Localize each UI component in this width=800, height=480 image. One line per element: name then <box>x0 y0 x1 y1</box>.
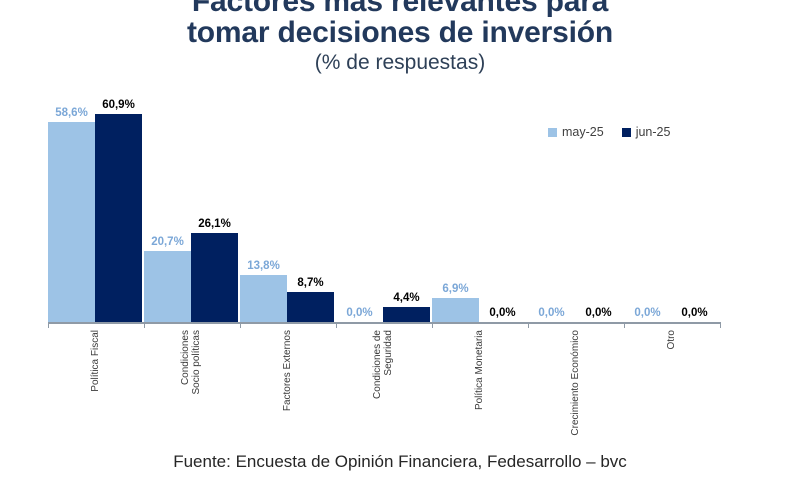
x-axis-tick <box>240 322 242 328</box>
bar-jun-25-2[interactable] <box>287 292 334 322</box>
x-axis-label-1: CondicionesSocio políticas <box>180 330 202 394</box>
value-label-jun-25-6: 0,0% <box>665 307 724 319</box>
value-label-may-25-1: 20,7% <box>138 236 197 248</box>
x-axis-label-0: Política Fiscal <box>90 330 101 392</box>
value-label-may-25-4: 6,9% <box>426 283 485 295</box>
x-axis-tick <box>336 322 338 328</box>
value-label-jun-25-0: 60,9% <box>89 99 148 111</box>
bar-jun-25-0[interactable] <box>95 114 142 322</box>
value-label-may-25-3: 0,0% <box>330 307 389 319</box>
value-label-jun-25-2: 8,7% <box>281 277 340 289</box>
bar-may-25-2[interactable] <box>240 275 287 322</box>
x-axis-line <box>48 322 720 324</box>
bar-may-25-4[interactable] <box>432 298 479 322</box>
slide-canvas: Factores más relevantes para tomar decis… <box>0 0 800 480</box>
x-axis-label-6: Otro <box>666 330 677 349</box>
x-axis-label-2: Factores Externos <box>282 330 293 411</box>
x-axis-tick <box>624 322 626 328</box>
x-axis-tick <box>720 322 722 328</box>
x-axis-label-5: Crecimiento Económico <box>570 330 581 436</box>
bar-jun-25-3[interactable] <box>383 307 430 322</box>
bar-may-25-1[interactable] <box>144 251 191 322</box>
value-label-may-25-2: 13,8% <box>234 260 293 272</box>
x-axis-tick <box>432 322 434 328</box>
chart-plot-area: 58,6%60,9%Política Fiscal20,7%26,1%Condi… <box>0 0 800 480</box>
x-axis-tick <box>528 322 530 328</box>
x-axis-label-4: Política Monetaria <box>474 330 485 410</box>
value-label-jun-25-1: 26,1% <box>185 218 244 230</box>
source-note: Fuente: Encuesta de Opinión Financiera, … <box>0 452 800 472</box>
x-axis-label-3: Condiciones deSeguridad <box>372 330 394 399</box>
x-axis-tick <box>48 322 50 328</box>
bar-may-25-0[interactable] <box>48 122 95 322</box>
bar-jun-25-1[interactable] <box>191 233 238 322</box>
x-axis-tick <box>144 322 146 328</box>
